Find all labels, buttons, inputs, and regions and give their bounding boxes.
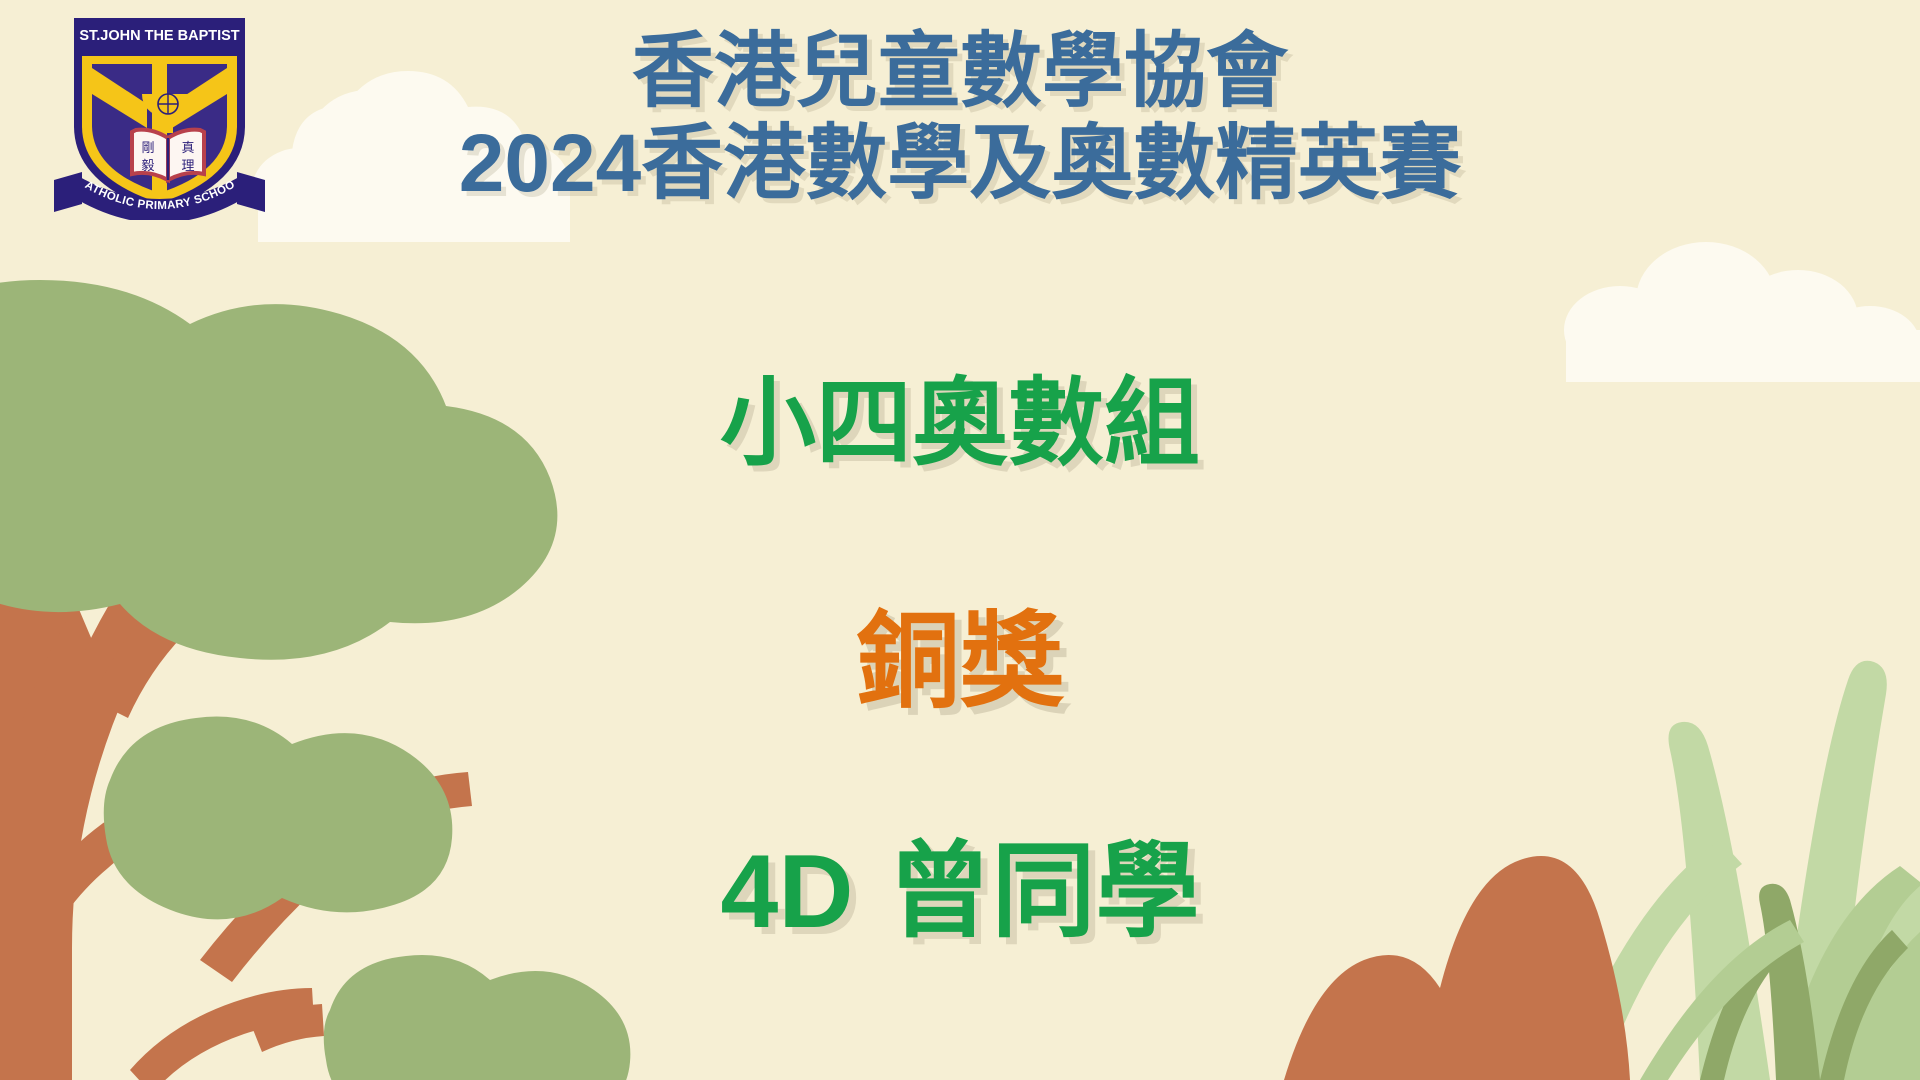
student-name: 曾同學: [887, 834, 1199, 950]
event-title: 香港兒童數學協會 2024香港數學及奧數精英賽: [0, 26, 1920, 210]
student-class: 4D: [721, 834, 854, 950]
event-title-line-2: 2024香港數學及奧數精英賽: [0, 118, 1920, 210]
cloud-top-right-icon: [1564, 242, 1920, 382]
award-slide: 剛 毅 真 理 ST.JOHN THE BAPTIST CATHOLIC PRI…: [0, 0, 1920, 1080]
competition-group: 小四奧數組: [0, 376, 1920, 472]
award-name: 銅獎: [0, 610, 1920, 714]
student-line: 4D曾同學: [0, 840, 1920, 944]
event-title-line-1: 香港兒童數學協會: [0, 26, 1920, 118]
